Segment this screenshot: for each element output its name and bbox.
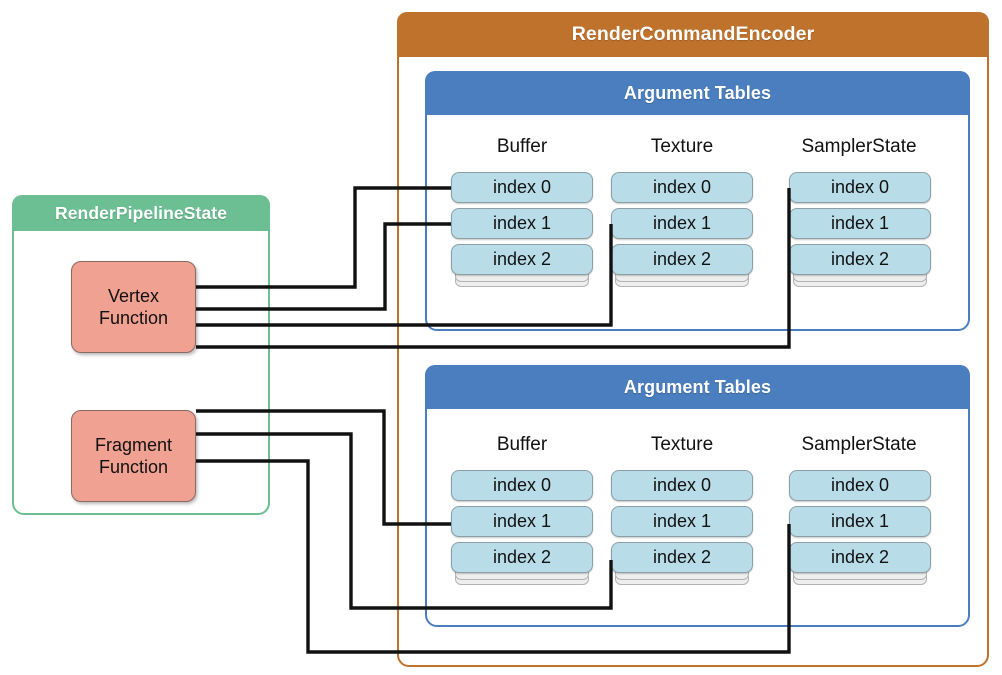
fragment-samplerstate-stack: index 0 index 1 index 2 — [789, 470, 931, 578]
vertex-samplerstate-index-0[interactable]: index 0 — [789, 172, 931, 203]
vertex-texture-index-1[interactable]: index 1 — [611, 208, 753, 239]
vertex-buffer-index-2[interactable]: index 2 — [451, 244, 593, 275]
fragment-samplerstate-index-2[interactable]: index 2 — [789, 542, 931, 573]
vertex-function-box[interactable]: Vertex Function — [71, 261, 196, 353]
fragment-buffer-index-2[interactable]: index 2 — [451, 542, 593, 573]
vertex-samplerstate-index-2[interactable]: index 2 — [789, 244, 931, 275]
fragment-buffer-index-0[interactable]: index 0 — [451, 470, 593, 501]
fragment-function-label-line1: Fragment — [95, 434, 172, 456]
fragment-texture-column-title: Texture — [611, 434, 753, 456]
fragment-argument-tables-title: Argument Tables — [425, 365, 970, 409]
vertex-texture-index-2[interactable]: index 2 — [611, 244, 753, 275]
fragment-samplerstate-index-1[interactable]: index 1 — [789, 506, 931, 537]
vertex-buffer-column-title: Buffer — [451, 136, 593, 158]
vertex-samplerstate-column-title: SamplerState — [779, 136, 939, 158]
fragment-samplerstate-column-title: SamplerState — [779, 434, 939, 456]
fragment-buffer-column-title: Buffer — [451, 434, 593, 456]
vertex-argument-tables-title: Argument Tables — [425, 71, 970, 115]
vertex-buffer-index-0[interactable]: index 0 — [451, 172, 593, 203]
render-command-encoder-title: RenderCommandEncoder — [397, 12, 989, 57]
vertex-texture-column-title: Texture — [611, 136, 753, 158]
vertex-texture-stack: index 0 index 1 index 2 — [611, 172, 753, 280]
fragment-texture-index-2[interactable]: index 2 — [611, 542, 753, 573]
vertex-samplerstate-index-1[interactable]: index 1 — [789, 208, 931, 239]
fragment-texture-stack: index 0 index 1 index 2 — [611, 470, 753, 578]
fragment-function-box[interactable]: Fragment Function — [71, 410, 196, 502]
fragment-function-label-line2: Function — [99, 456, 168, 478]
fragment-texture-index-0[interactable]: index 0 — [611, 470, 753, 501]
fragment-texture-index-1[interactable]: index 1 — [611, 506, 753, 537]
render-pipeline-state-title: RenderPipelineState — [12, 195, 270, 231]
fragment-buffer-index-1[interactable]: index 1 — [451, 506, 593, 537]
fragment-samplerstate-index-0[interactable]: index 0 — [789, 470, 931, 501]
vertex-texture-index-0[interactable]: index 0 — [611, 172, 753, 203]
vertex-samplerstate-stack: index 0 index 1 index 2 — [789, 172, 931, 280]
vertex-function-label-line1: Vertex — [108, 285, 159, 307]
diagram-canvas: RenderCommandEncoder Argument Tables Buf… — [0, 0, 1002, 675]
fragment-buffer-stack: index 0 index 1 index 2 — [451, 470, 593, 578]
vertex-buffer-stack: index 0 index 1 index 2 — [451, 172, 593, 280]
vertex-buffer-index-1[interactable]: index 1 — [451, 208, 593, 239]
vertex-function-label-line2: Function — [99, 307, 168, 329]
